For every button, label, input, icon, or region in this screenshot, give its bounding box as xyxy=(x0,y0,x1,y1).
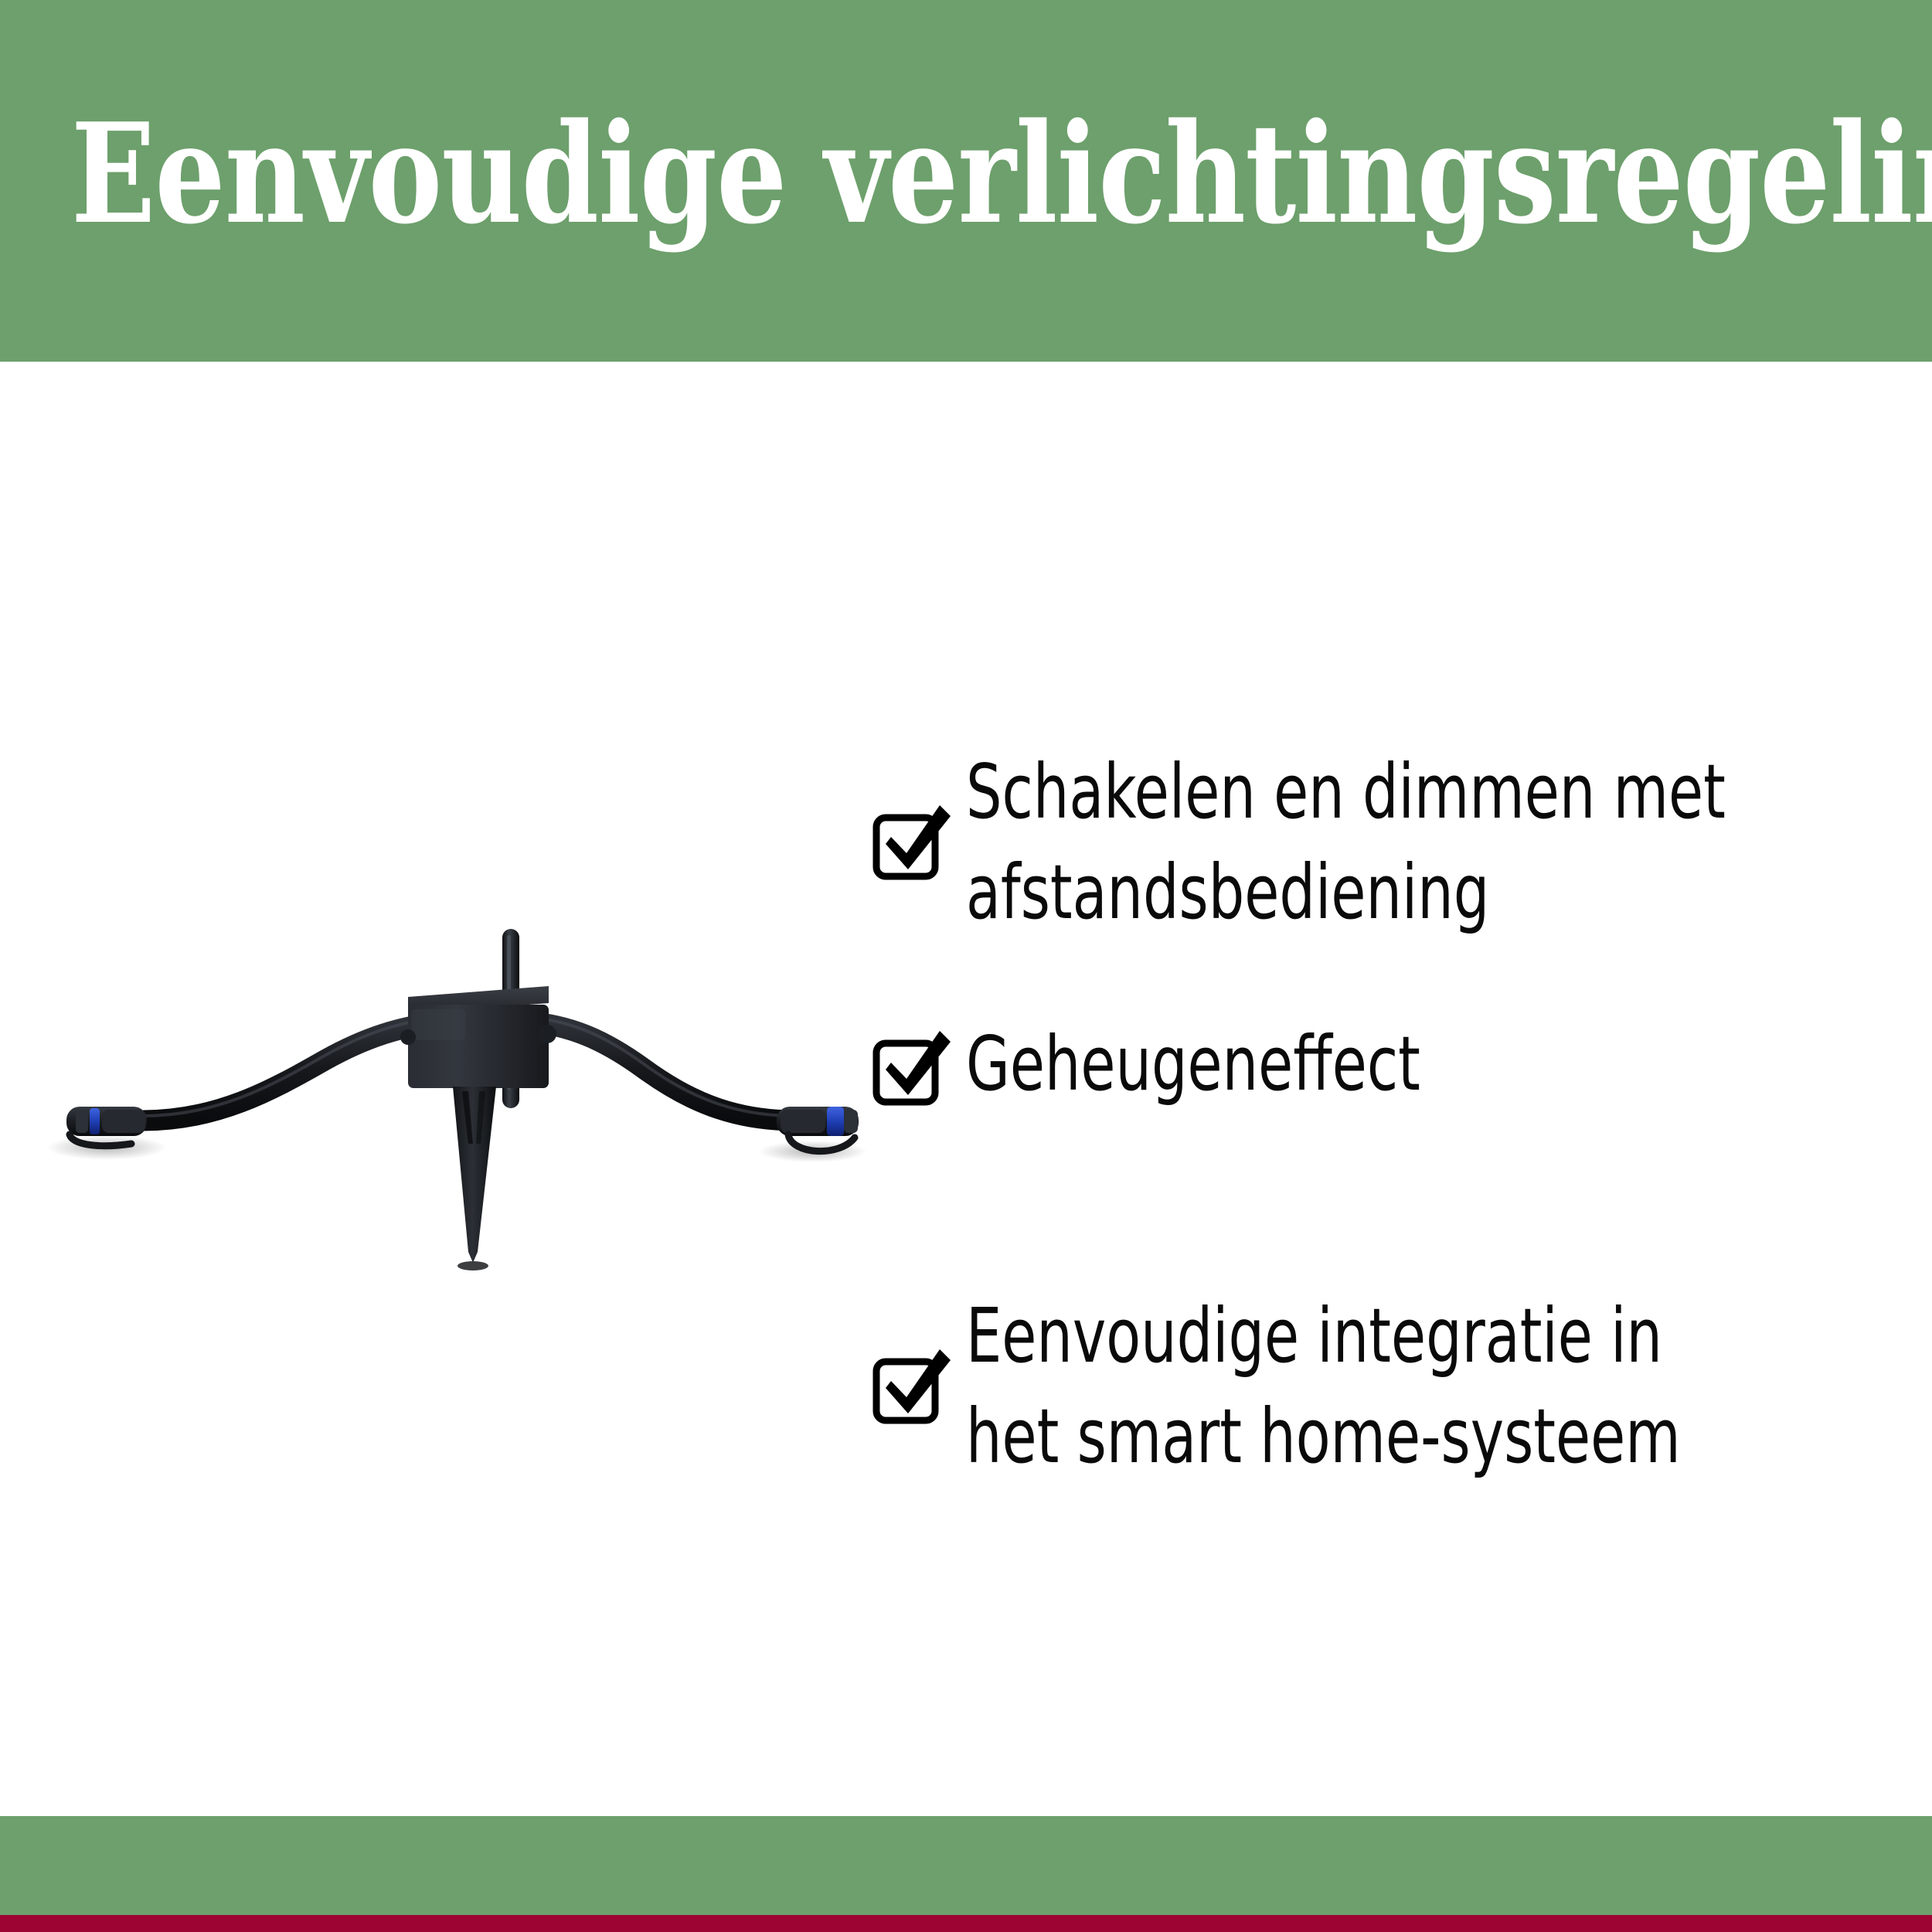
feature-label: Geheugeneffect xyxy=(966,1014,1751,1114)
footer-band xyxy=(0,1816,1932,1915)
footer-accent-bar xyxy=(0,1915,1932,1932)
checkbox-checked-icon xyxy=(866,1023,958,1116)
feature-item: Schakelen en dimmen met afstandsbedienin… xyxy=(866,742,1901,881)
control-box xyxy=(400,986,556,1088)
header-banner: Eenvoudige verlichtingsregeling xyxy=(0,0,1932,362)
feature-list: Schakelen en dimmen met afstandsbedienin… xyxy=(866,742,1901,1425)
page-title: Eenvoudige verlichtingsregeling xyxy=(71,100,1502,247)
feature-label: Schakelen en dimmen met afstandsbedienin… xyxy=(966,742,1751,943)
cable-right xyxy=(526,1022,796,1121)
feature-label: Eenvoudige integratie in het smart home-… xyxy=(966,1286,1751,1487)
product-feature-slide: Eenvoudige verlichtingsregeling xyxy=(0,0,1932,1932)
feature-item: Eenvoudige integratie in het smart home-… xyxy=(866,1286,1901,1425)
ground-spike xyxy=(453,1087,496,1263)
product-image xyxy=(15,889,927,1321)
feature-item: Geheugeneffect xyxy=(866,1014,1901,1153)
checkbox-checked-icon xyxy=(866,798,958,890)
checkbox-checked-icon xyxy=(866,1342,958,1434)
